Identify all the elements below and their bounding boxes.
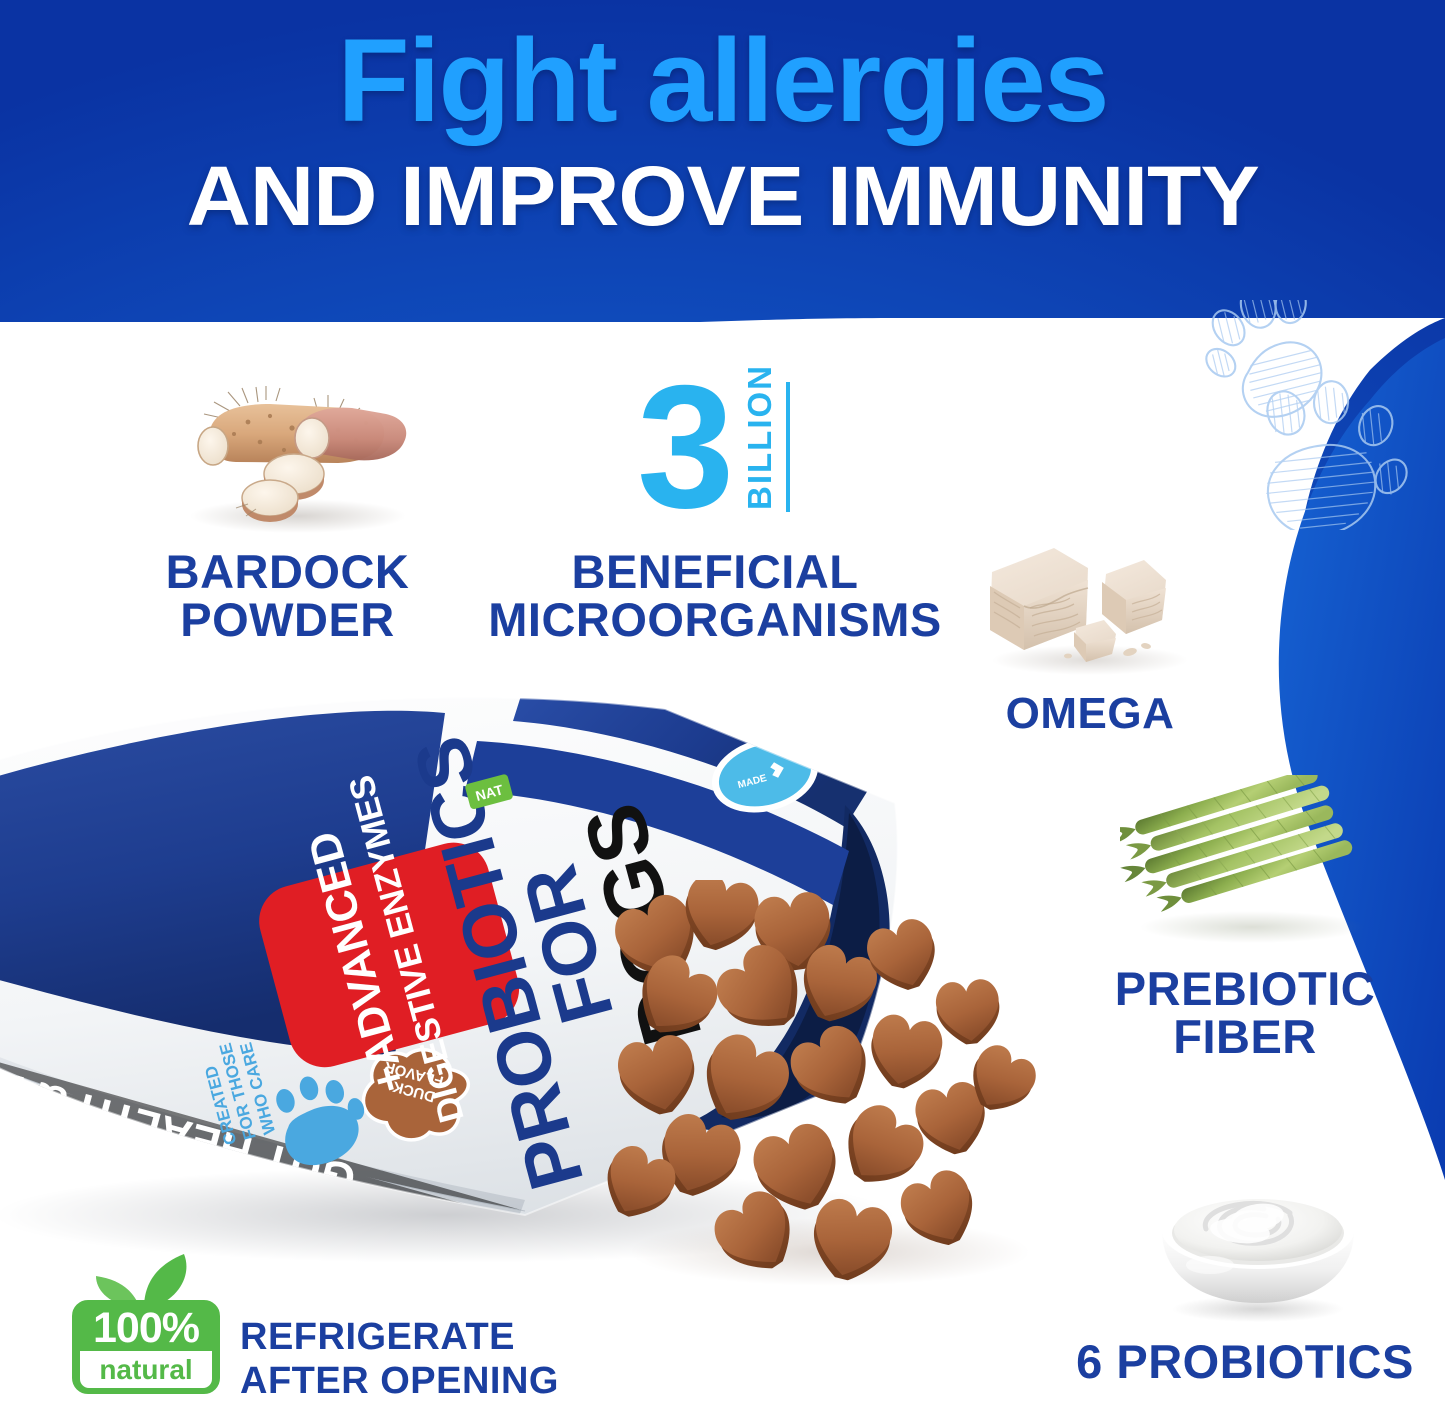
dog-chews-pile xyxy=(600,880,1060,1300)
feature-label-bardock: BARDOCK POWDER xyxy=(100,548,475,644)
refrigerate-line-1: REFRIGERATE xyxy=(240,1316,570,1360)
page-headline: Fight allergies xyxy=(338,22,1108,140)
feature-label-prebiotic-fiber: PREBIOTIC FIBER xyxy=(1075,965,1415,1061)
feature-label-microorganisms: BENEFICIAL MICROORGANISMS xyxy=(455,548,975,644)
header-text-block: Fight allergies AND IMPROVE IMMUNITY xyxy=(0,0,1445,320)
billion-unit-label: BILLION xyxy=(741,364,779,510)
prefiber-line-2: FIBER xyxy=(1075,1013,1415,1061)
natural-badge: 100% natural xyxy=(72,1252,220,1394)
refrigerate-note: REFRIGERATE AFTER OPENING xyxy=(240,1316,570,1403)
paw-print-decorations xyxy=(1190,300,1440,530)
microorg-line-2: MICROORGANISMS xyxy=(455,596,975,644)
natural-percent-text: 100% xyxy=(72,1304,220,1353)
refrigerate-line-2: AFTER OPENING xyxy=(240,1360,570,1404)
feature-label-omega: OMEGA xyxy=(935,692,1245,737)
microorg-line-1: BENEFICIAL xyxy=(455,548,975,596)
three-billion-graphic: 3 BILLION xyxy=(637,378,807,533)
feature-label-six-probiotics: 6 PROBIOTICS xyxy=(1055,1338,1435,1386)
product-infographic: Fight allergies AND IMPROVE IMMUNITY xyxy=(0,0,1445,1411)
billion-divider-rule xyxy=(786,382,790,512)
prefiber-line-1: PREBIOTIC xyxy=(1075,965,1415,1013)
bardock-line-1: BARDOCK xyxy=(100,548,475,596)
natural-word-text: natural xyxy=(80,1351,212,1388)
yogurt-bowl-photo xyxy=(1140,1175,1375,1325)
svg-text:Helps Maintain a Healthy Intes: Helps Maintain a Healthy Intestinal Trac… xyxy=(0,1087,27,1166)
page-subheadline: AND IMPROVE IMMUNITY xyxy=(186,154,1258,238)
bardock-line-2: POWDER xyxy=(100,596,475,644)
billion-number: 3 xyxy=(637,360,734,535)
asparagus-photo xyxy=(1120,775,1385,950)
burdock-root-photo xyxy=(170,378,420,538)
svg-text:Supports Normal Digestive Func: Supports Normal Digestive Function xyxy=(0,1112,82,1185)
